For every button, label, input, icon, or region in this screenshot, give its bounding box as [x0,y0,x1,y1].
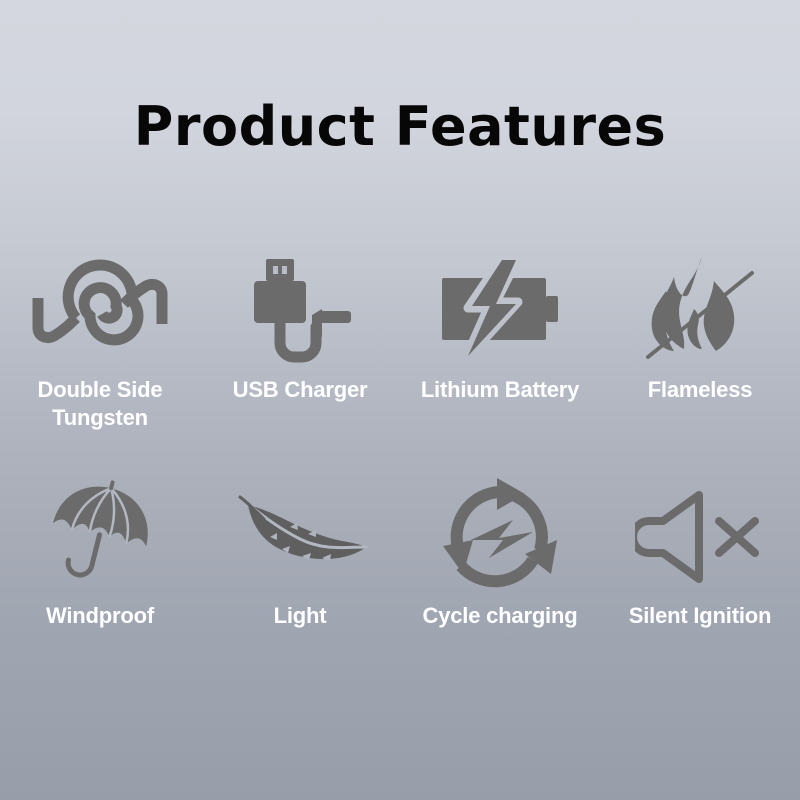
speaker-mute-icon [600,478,800,596]
feature-item-usb-charger: USB Charger [200,252,400,404]
feature-label: Windproof [0,602,200,630]
recycle-bolt-icon [400,478,600,596]
feature-label: Lithium Battery [400,376,600,404]
feature-item-flameless: Flameless [600,252,800,404]
feature-label: Cycle charging [400,602,600,630]
product-features-poster: Product Features Double Side Tungsten [0,0,800,800]
feature-label: Silent Ignition [600,602,800,630]
feature-item-windproof: Windproof [0,478,200,630]
feature-label: USB Charger [200,376,400,404]
feature-item-double-side-tungsten: Double Side Tungsten [0,252,200,432]
feature-label: Double Side Tungsten [0,376,200,432]
page-title: Product Features [0,96,800,158]
feature-label: Light [200,602,400,630]
feature-label: Flameless [600,376,800,404]
usb-cable-icon [200,252,400,370]
feature-item-lithium-battery: Lithium Battery [400,252,600,404]
battery-bolt-icon [400,252,600,370]
umbrella-icon [0,478,200,596]
feature-item-light: Light [200,478,400,630]
feature-item-silent-ignition: Silent Ignition [600,478,800,630]
feather-icon [200,478,400,596]
feature-item-cycle-charging: Cycle charging [400,478,600,630]
tungsten-coil-icon [0,252,200,370]
flame-slash-icon [600,252,800,370]
